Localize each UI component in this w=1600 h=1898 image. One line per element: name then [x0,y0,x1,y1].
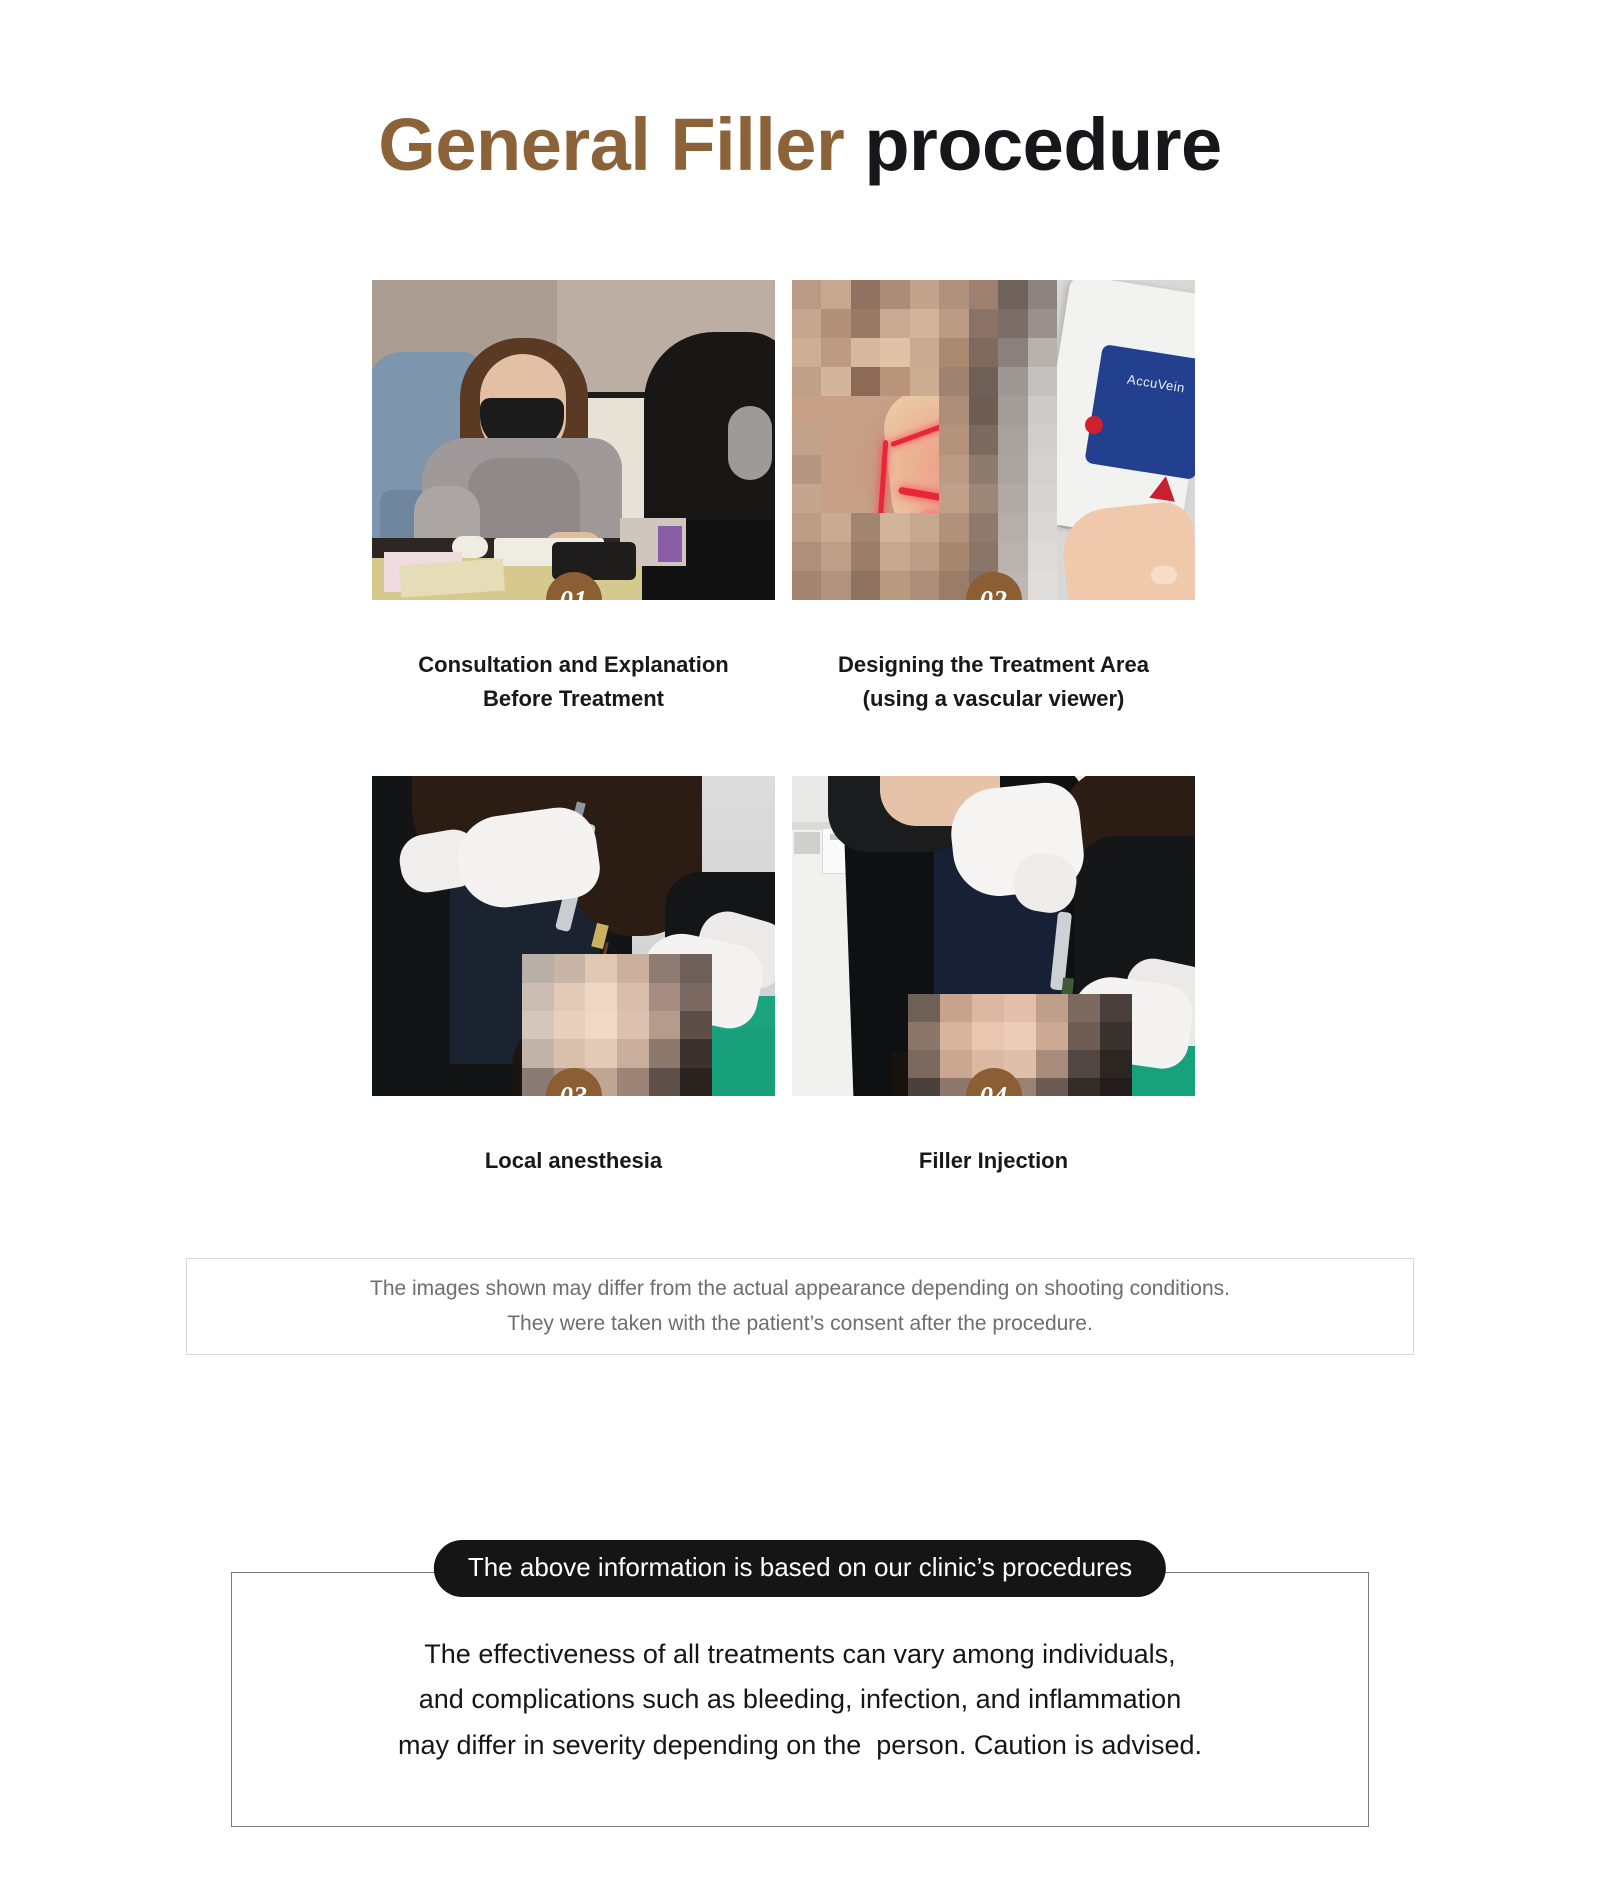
clinic-notice-text: The effectiveness of all treatments can … [231,1632,1369,1768]
step-photo-01-art [372,280,775,600]
clinic-notice-line1: The effectiveness of all treatments can … [231,1632,1369,1677]
step-row-1: 01 Consultation and Explanation Before T… [372,280,1194,716]
step-photo-03-art [372,776,775,1096]
page-root: General Filler procedure [0,0,1600,1898]
step-photo-02-art: AccuVein Accu Vein [792,280,1195,600]
step-caption-03: Local anesthesia [372,1144,775,1178]
clinic-notice-line3: may differ in severity depending on the … [231,1723,1369,1768]
step-card-04: 04 Filler Injection [792,776,1195,1178]
clinic-notice-pill: The above information is based on our cl… [434,1540,1166,1597]
step-caption-01-line2: Before Treatment [372,682,775,716]
page-title-wrap: General Filler procedure [0,106,1600,184]
step-photo-03: 03 [372,776,775,1096]
step-card-03: 03 Local anesthesia [372,776,775,1178]
step-caption-01-line1: Consultation and Explanation [418,652,728,677]
page-title: General Filler procedure [0,106,1600,184]
step-photo-01: 01 [372,280,775,600]
step-card-02: AccuVein Accu Vein [792,280,1195,716]
step-row-2: 03 Local anesthesia [372,776,1194,1178]
procedure-step-grid: 01 Consultation and Explanation Before T… [372,280,1194,1178]
page-title-highlight: General Filler [378,103,864,186]
image-disclaimer-box: The images shown may differ from the act… [186,1258,1414,1355]
step-card-01: 01 Consultation and Explanation Before T… [372,280,775,716]
step-photo-04-art [792,776,1195,1096]
step-photo-02: AccuVein Accu Vein [792,280,1195,600]
page-title-rest: procedure [864,103,1221,186]
clinic-notice-line2: and complications such as bleeding, infe… [231,1677,1369,1722]
step-caption-04: Filler Injection [792,1144,1195,1178]
step-caption-02-line2: (using a vascular viewer) [792,682,1195,716]
step-caption-02: Designing the Treatment Area (using a va… [792,648,1195,716]
step-photo-04: 04 [792,776,1195,1096]
image-disclaimer-line2: They were taken with the patient’s conse… [507,1307,1093,1341]
step-caption-02-line1: Designing the Treatment Area [838,652,1149,677]
step-caption-03-line1: Local anesthesia [485,1148,662,1173]
step-caption-04-line1: Filler Injection [919,1148,1068,1173]
step-caption-01: Consultation and Explanation Before Trea… [372,648,775,716]
image-disclaimer-line1: The images shown may differ from the act… [370,1272,1230,1306]
